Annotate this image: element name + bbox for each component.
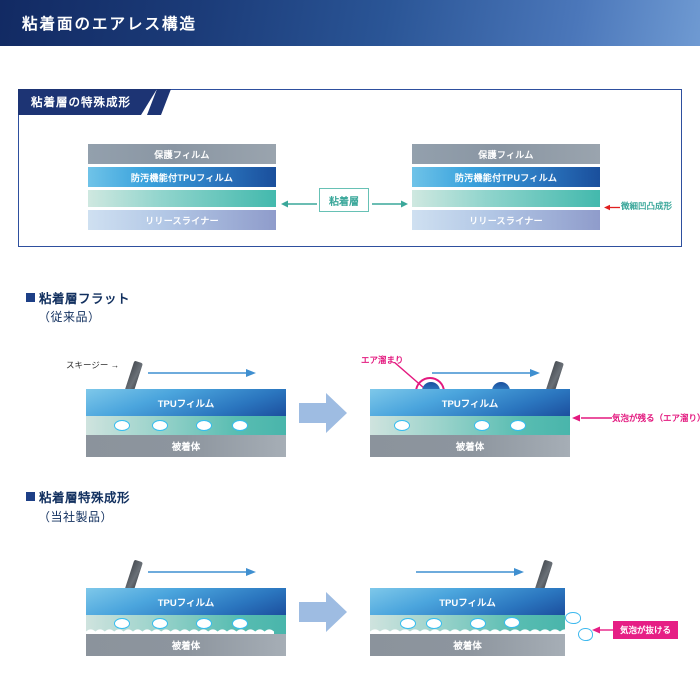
panel-special-after: TPUフィルム 被着体 xyxy=(370,588,565,656)
substrate-label: 被着体 xyxy=(370,634,565,656)
section-flat-heading: 粘着層フラット xyxy=(26,288,130,307)
flow-direction-arrow-icon xyxy=(148,566,256,578)
arrow-left-to-standard-stack-icon xyxy=(281,198,317,210)
tpu-film-label: TPUフィルム xyxy=(86,588,286,615)
bubble-escape-arrow-icon xyxy=(592,625,614,635)
panel-flat-after: TPUフィルム 被着体 xyxy=(370,389,570,457)
layer-stack-textured: 保護フィルム 防汚機能付TPUフィルム リリースライナー xyxy=(412,144,600,233)
page-banner: 粘着面のエアレス構造 xyxy=(0,0,700,46)
adhesive-layer-textured xyxy=(86,615,286,634)
square-bullet-icon xyxy=(26,492,35,501)
panel-flat-before: TPUフィルム 被着体 xyxy=(86,389,286,457)
section-special-heading: 粘着層特殊成形 xyxy=(26,487,130,506)
air-bubble xyxy=(152,420,168,431)
layer-tpu-film: 防汚機能付TPUフィルム xyxy=(412,167,600,187)
air-bubble xyxy=(394,420,410,431)
bubble-remain-label: 気泡が残る（エア溜り） xyxy=(612,412,700,424)
substrate-label: 被着体 xyxy=(86,435,286,457)
tpu-film-label: TPUフィルム xyxy=(370,389,570,416)
bubble-escape-label: 気泡が抜ける xyxy=(613,621,678,639)
panel-tab-label: 粘着層の特殊成形 xyxy=(18,89,157,115)
layer-stack-standard: 保護フィルム 防汚機能付TPUフィルム リリースライナー xyxy=(88,144,276,233)
tpu-film-label: TPUフィルム xyxy=(370,588,565,615)
flow-direction-arrow-icon xyxy=(432,367,540,379)
flow-direction-arrow-icon xyxy=(148,367,256,379)
section-flat-subheading: （従来品） xyxy=(38,308,101,325)
air-bubble xyxy=(196,420,212,431)
substrate-label: 被着体 xyxy=(370,435,570,457)
adhesive-layer-textured xyxy=(370,615,565,634)
section-special-subheading: （当社製品） xyxy=(38,508,113,525)
flow-direction-arrow-icon xyxy=(416,566,524,578)
layer-release-liner: リリースライナー xyxy=(412,210,600,230)
substrate-label: 被着体 xyxy=(86,634,286,656)
process-arrow-icon xyxy=(299,590,347,634)
layer-adhesive-flat xyxy=(88,190,276,207)
layer-tpu-film: 防汚機能付TPUフィルム xyxy=(88,167,276,187)
micro-texture-label: 微細凹凸成形 xyxy=(621,200,672,212)
layer-protect-film: 保護フィルム xyxy=(88,144,276,164)
air-bubble xyxy=(504,617,520,628)
adhesive-layer-flat xyxy=(86,416,286,435)
layer-release-liner: リリースライナー xyxy=(88,210,276,230)
tpu-film-label: TPUフィルム xyxy=(86,389,286,416)
air-bubble xyxy=(114,420,130,431)
escaping-bubble xyxy=(565,612,581,624)
square-bullet-icon xyxy=(26,293,35,302)
air-bubble xyxy=(510,420,526,431)
section-flat-heading-text: 粘着層フラット xyxy=(39,292,130,306)
squeegee-label: スキージー → xyxy=(66,359,119,371)
air-bubble xyxy=(232,420,248,431)
section-special-heading-text: 粘着層特殊成形 xyxy=(39,491,130,505)
escaping-bubble xyxy=(578,628,593,641)
adhesive-layer-callout: 粘着層 xyxy=(319,188,369,212)
adhesive-layer-flat xyxy=(370,416,570,435)
air-bubble xyxy=(474,420,490,431)
micro-texture-arrow-icon xyxy=(604,203,620,212)
arrow-right-to-textured-stack-icon xyxy=(372,198,408,210)
panel-special-before: TPUフィルム 被着体 xyxy=(86,588,286,656)
process-arrow-icon xyxy=(299,391,347,435)
diagram-page: 粘着面のエアレス構造 粘着層の特殊成形 保護フィルム 防汚機能付TPUフィルム … xyxy=(0,0,700,700)
layer-adhesive-textured xyxy=(412,190,600,207)
page-title: 粘着面のエアレス構造 xyxy=(22,12,197,34)
bubble-remain-arrow-icon xyxy=(572,413,612,423)
layer-protect-film: 保護フィルム xyxy=(412,144,600,164)
